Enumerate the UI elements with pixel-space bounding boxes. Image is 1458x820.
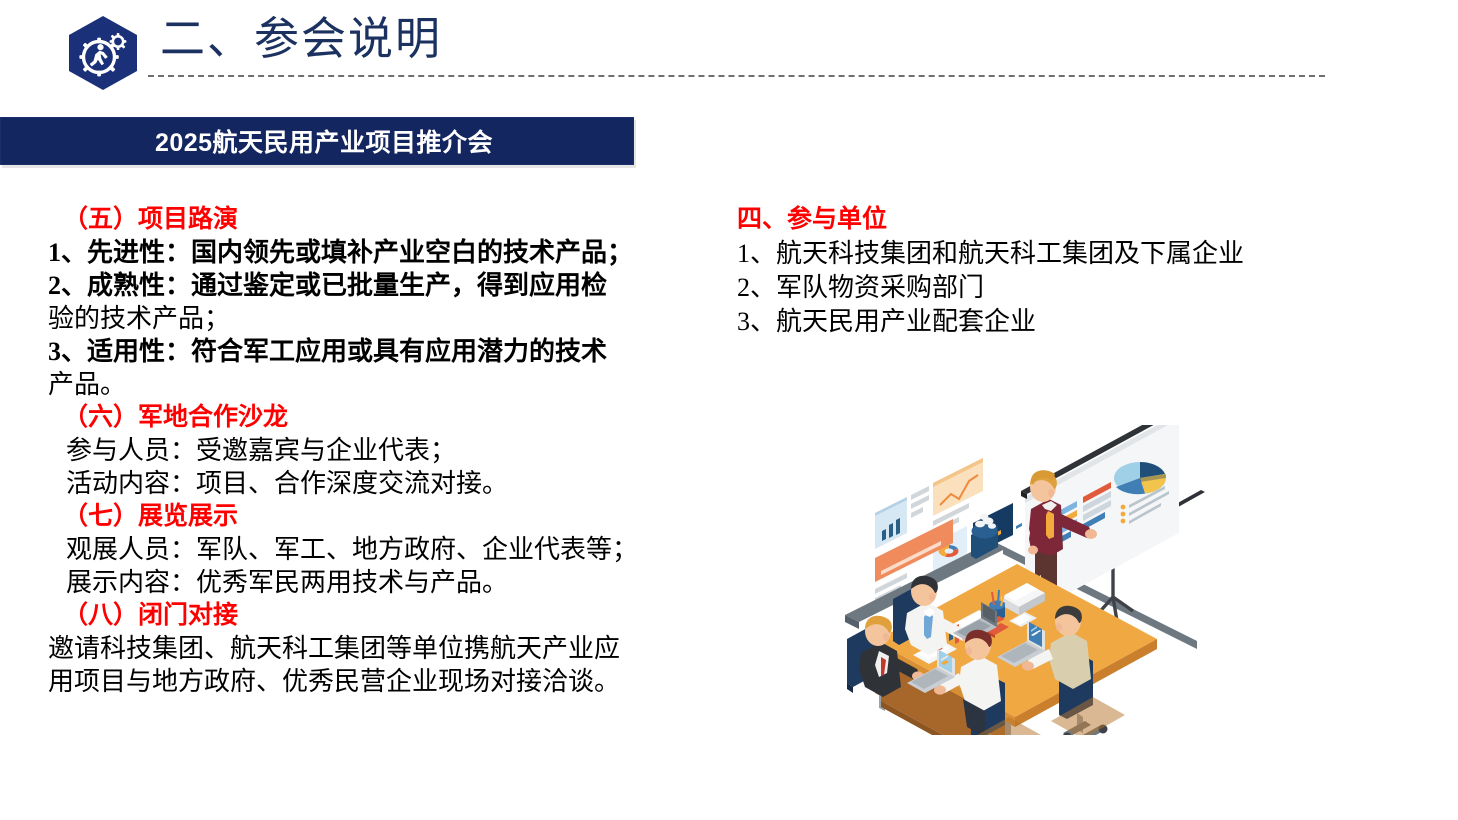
page-title: 二、参会说明 — [160, 8, 442, 70]
right-content-column: 四、参与单位 1、航天科技集团和航天科工集团及下属企业 2、军队物资采购部门 3… — [737, 203, 1357, 339]
conference-title-banner: 2025航天民用产业项目推介会 — [0, 117, 634, 165]
section-five-line-3: 验的技术产品； — [48, 302, 708, 335]
banner-title-text: 2025航天民用产业项目推介会 — [0, 123, 634, 159]
section-heading-eight: （八）闭门对接 — [48, 599, 708, 632]
left-content-column: （五）项目路演 1、先进性：国内领先或填补产业空白的技术产品； 2、成熟性：通过… — [48, 203, 708, 698]
section-five-line-2: 2、成熟性：通过鉴定或已批量生产，得到应用检 — [48, 269, 708, 302]
section-heading-six: （六）军地合作沙龙 — [48, 401, 708, 434]
section-eight-line-1: 邀请科技集团、航天科工集团等单位携航天产业应 — [48, 632, 708, 665]
slide: 二、参会说明 2025航天民用产业项目推介会 （五）项目路演 1、先进性：国内领… — [0, 0, 1458, 820]
hexagon-gear-person-icon — [66, 15, 140, 91]
section-five-line-1: 1、先进性：国内领先或填补产业空白的技术产品； — [48, 236, 708, 269]
section-heading-five: （五）项目路演 — [48, 203, 708, 236]
section-six-line-2: 活动内容：项目、合作深度交流对接。 — [48, 467, 708, 500]
participating-unit-item-2: 2、军队物资采购部门 — [737, 271, 1357, 305]
header-dashed-divider — [148, 75, 1325, 77]
section-eight-line-2: 用项目与地方政府、优秀民营企业现场对接洽谈。 — [48, 665, 708, 698]
participating-units-heading: 四、参与单位 — [737, 203, 1357, 237]
participating-unit-item-3: 3、航天民用产业配套企业 — [737, 305, 1357, 339]
participating-unit-item-1: 1、航天科技集团和航天科工集团及下属企业 — [737, 237, 1357, 271]
slide-header: 二、参会说明 — [0, 0, 1458, 100]
section-five-line-5: 产品。 — [48, 368, 708, 401]
section-heading-seven: （七）展览展示 — [48, 500, 708, 533]
screen-pie-chart — [1114, 462, 1166, 494]
section-six-line-1: 参与人员：受邀嘉宾与企业代表； — [48, 434, 708, 467]
isometric-business-meeting-illustration — [845, 425, 1215, 735]
section-five-line-4: 3、适用性：符合军工应用或具有应用潜力的技术 — [48, 335, 708, 368]
section-seven-line-1: 观展人员：军队、军工、地方政府、企业代表等； — [48, 533, 708, 566]
section-seven-line-2: 展示内容：优秀军民两用技术与产品。 — [48, 566, 708, 599]
